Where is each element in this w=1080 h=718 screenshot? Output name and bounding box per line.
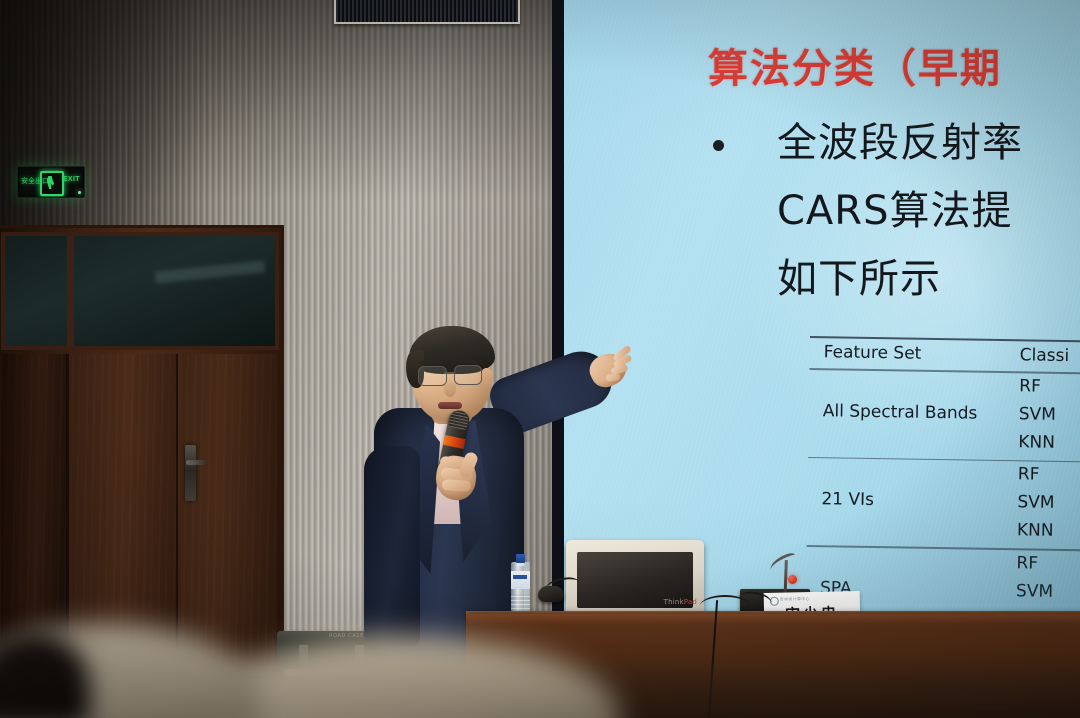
wooden-double-door[interactable] (0, 225, 284, 685)
exit-sign-english-label: EXIT (63, 176, 80, 183)
flight-case-latch (299, 645, 308, 665)
glasses-lens-left (418, 366, 447, 386)
wood-grain (180, 354, 277, 678)
wood-grain (72, 354, 176, 678)
exit-sign-indicator-icon (78, 191, 81, 194)
door-lock-plate[interactable] (185, 445, 196, 501)
transom-reflection (155, 260, 266, 283)
microphone-grille-icon (448, 410, 470, 431)
speaker-finger (442, 479, 472, 492)
microphone-indicator-icon (788, 575, 797, 584)
door-leaf-middle[interactable] (72, 354, 178, 678)
hvac-vent (334, 0, 520, 24)
transom-mullion (67, 236, 74, 346)
door-leaf-left[interactable] (1, 354, 69, 678)
podium-desk (466, 614, 1080, 718)
flight-case-label: ROAD CASE (329, 633, 364, 639)
speaker-left-arm (364, 446, 420, 646)
door-transom-glass (1, 232, 279, 350)
emergency-exit-sign: 安全出口 EXIT (17, 166, 85, 198)
thinkpad-logo: ThinkPad (664, 598, 697, 606)
name-card-organization: 吉林省计算中心 (780, 596, 810, 603)
bottle-cap[interactable] (516, 554, 525, 563)
door-leaf-right[interactable] (180, 354, 277, 678)
microphone-sponsor-band (443, 435, 466, 449)
thinkpad-laptop[interactable]: ThinkPad (566, 540, 704, 612)
running-man-icon (40, 171, 64, 196)
computer-mouse[interactable] (538, 586, 564, 602)
wood-grain (1, 354, 66, 678)
lecture-hall-photo: 安全出口 EXIT 算法分类（早期 全波段反射率 CARS算法提 如下所示 Fe… (0, 0, 1080, 718)
speaker-mouth (438, 402, 462, 409)
bottle-label (511, 571, 530, 589)
water-bottle[interactable] (511, 549, 530, 613)
speaker-nose (444, 380, 456, 397)
vent-grille (336, 0, 518, 22)
door-handle-lever[interactable] (186, 460, 206, 465)
glasses-lens-right (454, 365, 482, 385)
glasses-bridge (444, 372, 455, 374)
